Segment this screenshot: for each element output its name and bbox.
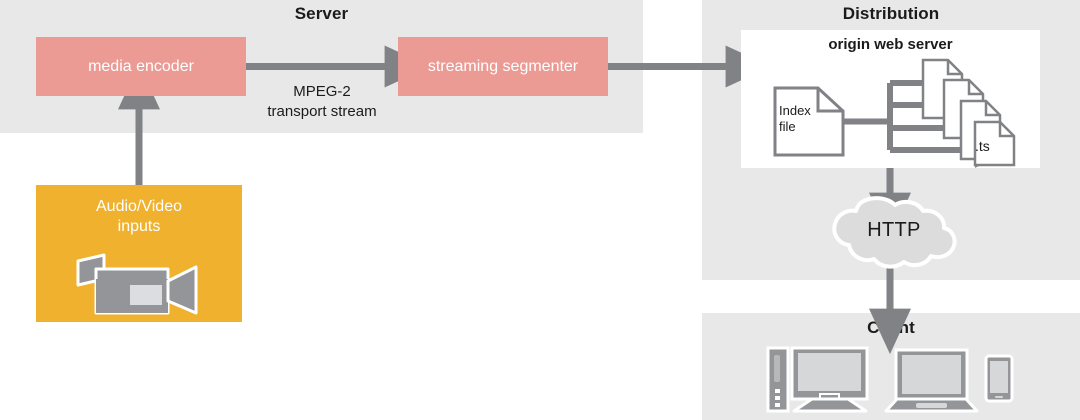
http-cloud-label: HTTP [832, 219, 956, 242]
mpeg-label-line1: MPEG-2 [233, 82, 411, 102]
video-camera-icon [72, 253, 208, 319]
index-file-label-line2: file [779, 119, 831, 135]
mpeg-transport-stream-label: MPEG-2 transport stream [233, 82, 411, 123]
segment-ts-label: .ts [975, 138, 1015, 154]
box-audio-video-inputs[interactable]: Audio/Video inputs [36, 185, 242, 322]
av-label-line2: inputs [36, 217, 242, 237]
box-streaming-segmenter[interactable]: streaming segmenter [398, 37, 608, 96]
box-media-encoder-label: media encoder [88, 58, 194, 76]
audio-video-inputs-label: Audio/Video inputs [36, 197, 242, 237]
mpeg-label-line2: transport stream [233, 102, 411, 122]
box-media-encoder[interactable]: media encoder [36, 37, 246, 96]
av-label-line1: Audio/Video [36, 197, 242, 217]
index-file-label: Index file [779, 103, 831, 136]
panel-title-client: Client [702, 318, 1080, 338]
origin-web-server-title: origin web server [741, 36, 1040, 53]
box-streaming-segmenter-label: streaming segmenter [428, 58, 578, 76]
index-file-label-line1: Index [779, 103, 831, 119]
panel-title-distribution: Distribution [702, 4, 1080, 24]
panel-title-server: Server [0, 4, 643, 24]
